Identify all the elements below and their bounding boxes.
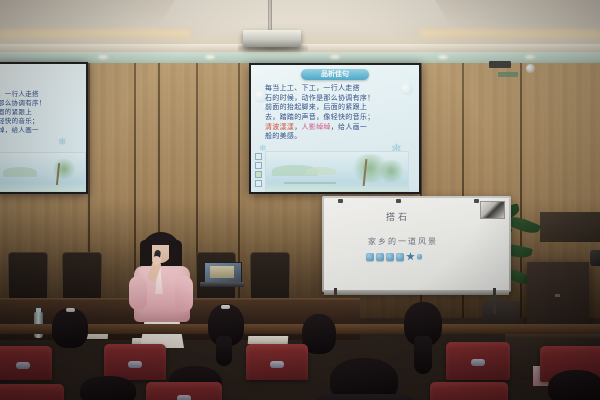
whiteboard-magnet-row	[366, 252, 422, 261]
picture-tree	[47, 157, 69, 185]
downlight	[330, 55, 340, 59]
projector-indicator	[498, 72, 518, 77]
magnet-star[interactable]	[406, 252, 415, 261]
left-projection-screen: ，一行人走搭 那么协调有序！ 面的紧跟上 轻快的音乐； 绰，给人画一 ❄	[0, 62, 88, 194]
teacher-hand	[152, 256, 161, 265]
slide-line: 前面的抬起脚来，后面的紧跟上	[265, 103, 405, 113]
left-screen-surface: ，一行人走搭 那么协调有序！ 面的紧跟上 轻快的音乐； 绰，给人画一 ❄	[0, 64, 86, 192]
whiteboard-clip[interactable]	[474, 199, 479, 203]
whiteboard-clip[interactable]	[396, 199, 401, 203]
slide-line: 般的美感。	[265, 132, 405, 142]
auditorium-seat-front[interactable]	[0, 384, 64, 400]
cove-light-glow-right	[420, 30, 600, 40]
picture-hill	[306, 167, 336, 175]
slide-side-button[interactable]	[255, 162, 262, 169]
student-desk-row	[0, 324, 600, 334]
student-ponytail	[414, 336, 432, 374]
cove-light-glow-left	[0, 30, 190, 40]
student-ponytail	[216, 336, 232, 366]
auditorium-seat-front[interactable]	[146, 382, 222, 400]
seat-number-badge	[270, 361, 284, 368]
classroom-photo: ，一行人走搭 那么协调有序！ 面的紧跟上 轻快的音乐； 绰，给人画一 ❄ 品析佳…	[0, 0, 600, 400]
laptop-keyboard[interactable]	[200, 282, 244, 287]
slide-side-button[interactable]	[255, 153, 262, 160]
slide-line-highlighted: 清波漾漾，人影绰绰，给人画一	[265, 123, 405, 133]
cabinet-knob[interactable]	[555, 294, 560, 297]
left-slide-line: 面的紧跟上	[0, 108, 84, 117]
student-head-front	[80, 376, 136, 400]
projector-lens	[526, 64, 535, 73]
ceiling-cove-left	[0, 0, 175, 34]
whiteboard-photo-card	[480, 201, 505, 219]
projector-mount-pole	[268, 0, 272, 34]
whiteboard-title: 搭石	[386, 210, 410, 223]
student-head	[52, 308, 88, 348]
left-slide-line: 绰，给人画一	[0, 126, 84, 135]
auditorium-seat-front[interactable]	[430, 382, 508, 400]
projector-icon	[243, 30, 301, 47]
magnet[interactable]	[386, 253, 394, 261]
seat-number-badge	[177, 395, 191, 400]
slide-side-button[interactable]	[255, 180, 262, 187]
picture-hill	[3, 167, 37, 177]
magnet[interactable]	[396, 253, 404, 261]
main-screen-surface: 品析佳句 每当上工、下工，一行人走搭 石的时候，动作是那么协调有序！ 前面的抬起…	[251, 65, 419, 192]
slide-side-button[interactable]	[255, 171, 262, 178]
back-chair[interactable]	[62, 252, 102, 300]
magnet[interactable]	[376, 253, 384, 261]
seat-number-badge	[16, 362, 30, 369]
auditorium-seat[interactable]	[104, 344, 166, 380]
picture-stepping-stones	[284, 182, 336, 184]
seat-number-badge	[471, 359, 485, 366]
downlight	[205, 55, 215, 59]
downlight	[525, 55, 535, 59]
hair-tie	[221, 305, 230, 309]
highlight-pink: 人影绰绰	[302, 123, 331, 131]
left-slide-line: 那么协调有序！	[0, 99, 84, 108]
left-slide-line: 轻快的音乐；	[0, 117, 84, 126]
left-slide-picture	[0, 152, 86, 192]
whiteboard: 搭石 家乡的一道风景	[322, 196, 511, 292]
slide-line: 石的时候，动作是那么协调有序！	[265, 94, 405, 104]
highlight-red: 清波漾漾	[265, 123, 294, 131]
laptop-screen	[204, 262, 242, 284]
auditorium-seat[interactable]	[246, 344, 308, 380]
audience	[0, 300, 600, 400]
projector-vent	[489, 61, 511, 68]
downlight	[98, 55, 108, 59]
downlight	[438, 55, 448, 59]
left-slide-line: ，一行人走搭	[0, 90, 84, 99]
electric-kettle	[590, 250, 600, 266]
back-chair[interactable]	[250, 252, 290, 300]
main-slide-text: 每当上工、下工，一行人走搭 石的时候，动作是那么协调有序！ 前面的抬起脚来，后面…	[265, 84, 405, 142]
whiteboard-clip[interactable]	[338, 199, 343, 203]
seat-number-badge	[128, 361, 142, 368]
slide-decoration-clover: ❄	[58, 138, 66, 148]
auditorium-seat[interactable]	[0, 346, 52, 380]
right-shelf	[540, 212, 600, 242]
picture-tree	[346, 152, 386, 186]
magnet[interactable]	[366, 253, 374, 261]
main-projection-screen: 品析佳句 每当上工、下工，一行人走搭 石的时候，动作是那么协调有序！ 前面的抬起…	[249, 63, 421, 194]
main-slide-picture	[265, 151, 409, 192]
hair-tie	[66, 308, 75, 312]
student-shoulders	[312, 394, 420, 400]
magnet[interactable]	[417, 254, 422, 259]
slide-line: 去，踏踏的声音，像轻快的音乐；	[265, 113, 405, 123]
laptop[interactable]	[200, 262, 244, 288]
student-head-front	[548, 370, 600, 400]
whiteboard-subtitle: 家乡的一道风景	[368, 236, 438, 247]
slide-punct: ，	[294, 123, 301, 131]
slide-banner: 品析佳句	[301, 69, 369, 80]
auditorium-seat[interactable]	[446, 342, 510, 380]
whiteboard-surface[interactable]: 搭石 家乡的一道风景	[324, 198, 509, 290]
slide-tail: ，给人画一	[331, 123, 368, 131]
slide-line: 每当上工、下工，一行人走搭	[265, 84, 405, 94]
ceiling-cove-right	[435, 0, 600, 34]
back-chair[interactable]	[8, 252, 48, 300]
left-slide-text: ，一行人走搭 那么协调有序！ 面的紧跟上 轻快的音乐； 绰，给人画一	[0, 90, 84, 135]
